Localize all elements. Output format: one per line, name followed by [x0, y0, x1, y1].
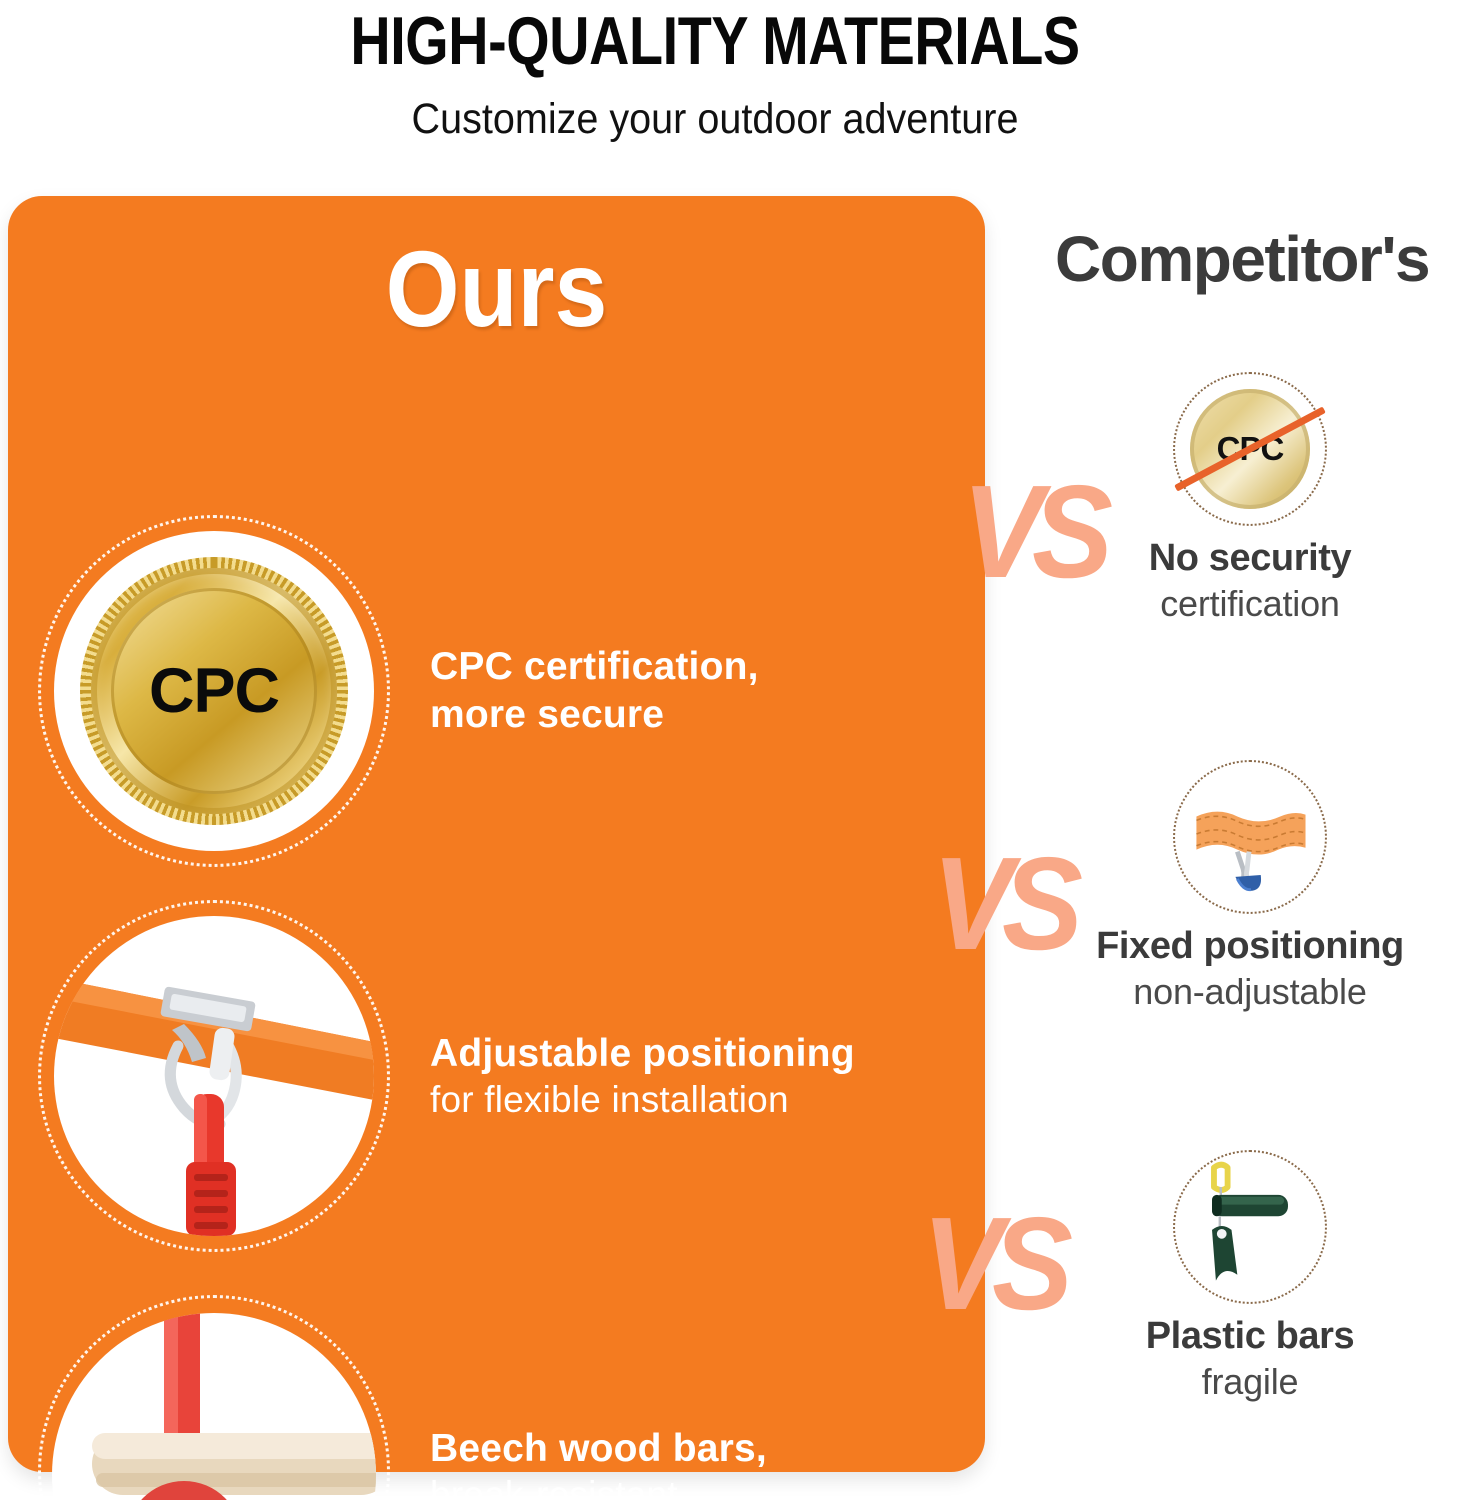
ours-feature-image-cpc: CPC — [38, 515, 390, 867]
ours-feature-image-strap — [38, 900, 390, 1252]
white-circle-backdrop — [52, 1313, 376, 1500]
competitor-subtext: certification — [1040, 581, 1460, 626]
ours-panel: Ours CPC CPC certification, more secu — [8, 196, 985, 1472]
ours-feature-headline: Beech wood bars, — [430, 1425, 767, 1473]
competitor-heading: Plastic bars — [1040, 1314, 1460, 1359]
competitor-item-fixed: Fixed positioning non-adjustable — [1040, 760, 1460, 1014]
white-circle-backdrop — [54, 916, 374, 1236]
ours-feature-row-beech: Beech wood bars, break-resistant — [8, 1291, 985, 1500]
ours-feature-subline: more secure — [430, 691, 759, 739]
ours-feature-subline: for flexible installation — [430, 1077, 855, 1122]
page-title: HIGH-QUALITY MATERIALS — [129, 2, 1302, 80]
ours-feature-subline: break-resistant — [430, 1472, 767, 1500]
competitor-panel-title: Competitor's — [1055, 222, 1429, 296]
fixed-strap-illustration — [1175, 762, 1325, 912]
competitor-item-plastic: Plastic bars fragile — [1040, 1150, 1460, 1404]
competitor-subtext: fragile — [1040, 1359, 1460, 1404]
page-subtitle: Customize your outdoor adventure — [57, 95, 1373, 144]
competitor-heading: No security — [1040, 536, 1460, 581]
competitor-image-cpc-crossed: CPC — [1173, 372, 1327, 526]
ours-feature-headline: CPC certification, — [430, 643, 759, 691]
ours-feature-headline: Adjustable positioning — [430, 1030, 855, 1078]
beech-bar-rope-illustration — [52, 1313, 376, 1500]
medal-inner-face: CPC — [111, 588, 317, 794]
competitor-image-plastic-bar — [1173, 1150, 1327, 1304]
ours-feature-row-cpc: CPC CPC certification, more secure — [8, 526, 985, 856]
ours-feature-image-beech — [38, 1295, 390, 1500]
ours-feature-text-beech: Beech wood bars, break-resistant — [430, 1425, 767, 1500]
competitor-subtext: non-adjustable — [1040, 969, 1460, 1014]
strap-carabiner-illustration — [54, 916, 374, 1236]
ours-feature-text-adjustable: Adjustable positioning for flexible inst… — [430, 1030, 855, 1123]
white-circle-backdrop: CPC — [54, 531, 374, 851]
competitor-image-fixed-strap — [1173, 760, 1327, 914]
medal-label: CPC — [149, 655, 279, 727]
ours-feature-row-adjustable: Adjustable positioning for flexible inst… — [8, 911, 985, 1241]
competitor-heading: Fixed positioning — [1040, 924, 1460, 969]
ours-panel-title: Ours — [67, 226, 927, 351]
plastic-bar-illustration — [1175, 1152, 1325, 1302]
competitor-item-security: CPC No security certification — [1040, 372, 1460, 626]
comparison-infographic: HIGH-QUALITY MATERIALS Customize your ou… — [0, 0, 1469, 1500]
ours-feature-text-cpc: CPC certification, more secure — [430, 643, 759, 738]
